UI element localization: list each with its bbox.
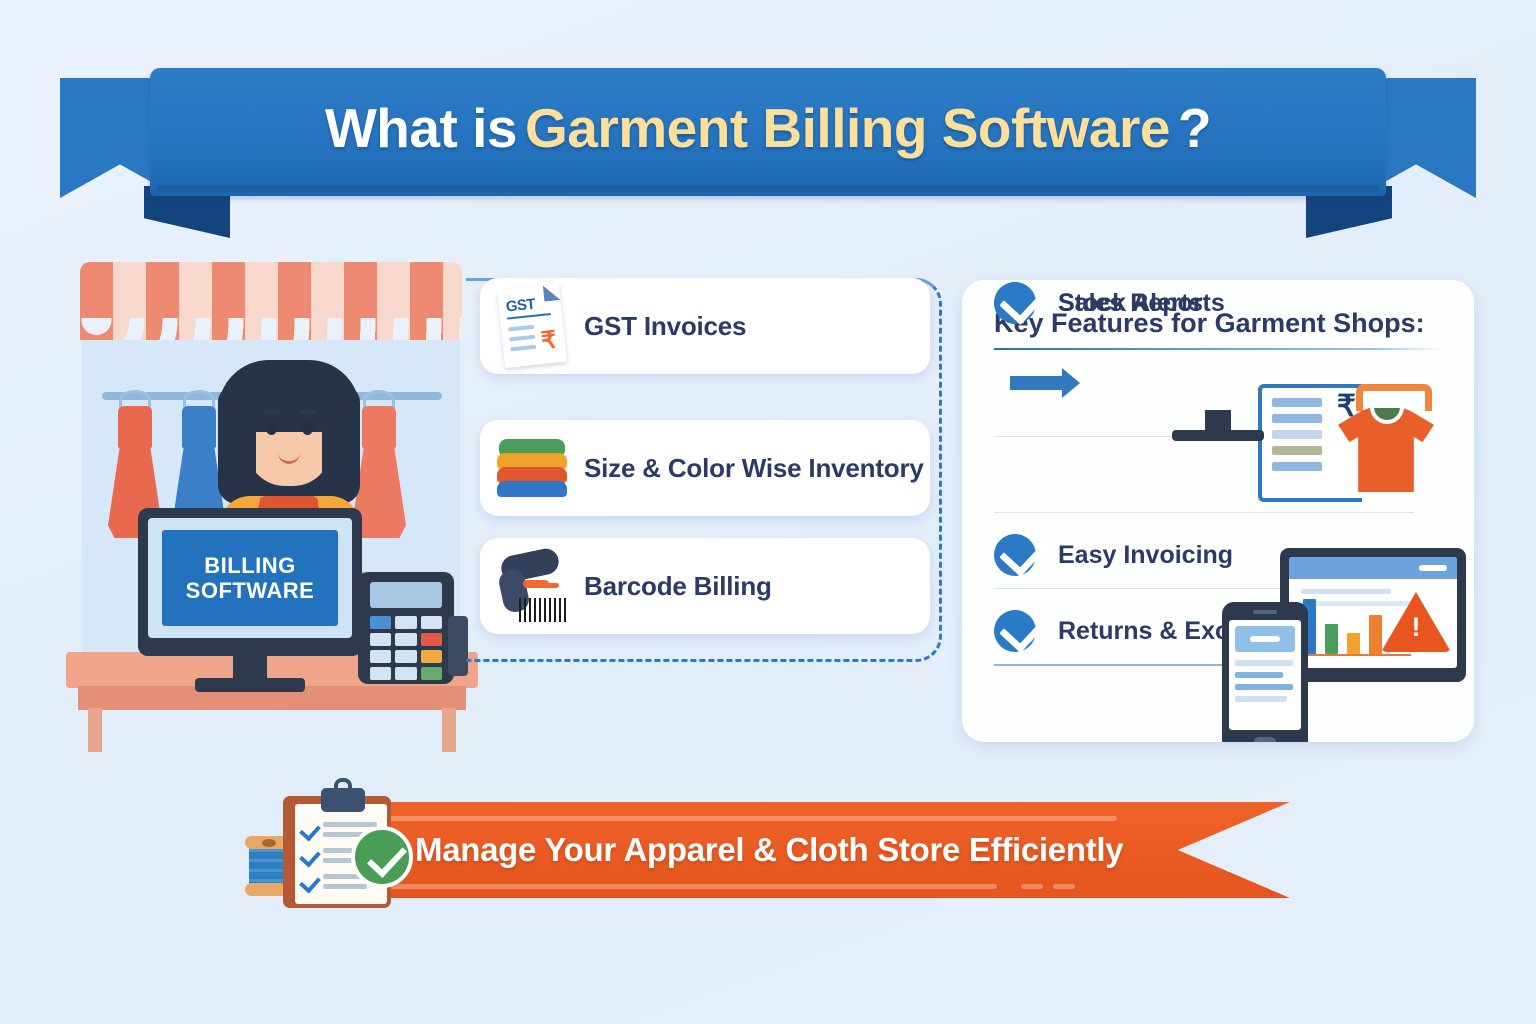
key-feature-stock-alerts[interactable]: Stock Alerts	[994, 280, 1203, 326]
feature-card-barcode[interactable]: Barcode Billing	[480, 538, 930, 634]
feature-card-label: GST Invoices	[584, 311, 746, 342]
smartphone-icon	[1222, 602, 1308, 742]
bar-3	[1347, 633, 1360, 654]
infographic-canvas: What is Garment Billing Software ?	[0, 0, 1536, 1024]
feature-card-gst[interactable]: GST ₹ GST Invoices	[480, 278, 930, 374]
feature-card-inventory[interactable]: Size & Color Wise Inventory	[480, 420, 930, 516]
monitor-line-1: BILLING	[204, 553, 296, 578]
gst-invoice-document-icon: GST ₹	[480, 278, 584, 374]
title-ribbon: What is Garment Billing Software ?	[60, 68, 1476, 218]
check-circle-icon	[994, 280, 1040, 326]
exchange-arrow-icon	[1010, 376, 1064, 390]
barcode-scanner-icon	[480, 538, 584, 634]
heading-underline	[994, 348, 1442, 350]
title-question-mark: ?	[1178, 96, 1211, 160]
monitor-screen-text: BILLING SOFTWARE	[162, 530, 338, 626]
rupee-symbol-icon: ₹	[540, 329, 558, 354]
barcode-stripes	[519, 598, 567, 622]
shop-illustration: BILLING SOFTWARE	[62, 252, 482, 742]
footer-banner: Manage Your Apparel & Cloth Store Effici…	[185, 788, 1295, 912]
key-feature-label: Easy Invoicing	[1058, 541, 1233, 570]
folded-clothes-stack-icon	[480, 420, 584, 516]
green-check-badge-icon	[351, 826, 413, 888]
bar-4	[1369, 615, 1382, 654]
monitor-line-2: SOFTWARE	[186, 578, 315, 603]
title-part-white: What is	[325, 96, 517, 160]
gst-doc-label: GST	[505, 296, 536, 316]
key-feature-easy-invoicing[interactable]: Easy Invoicing	[994, 532, 1233, 578]
checklist-clipboard-icon	[245, 788, 405, 912]
feature-card-label: Barcode Billing	[584, 571, 772, 602]
feature-cards-column: Size & Color Wise Inventory Barcode Bill…	[466, 278, 942, 662]
check-circle-icon	[994, 608, 1040, 654]
billing-software-monitor: BILLING SOFTWARE	[138, 508, 362, 656]
sales-bar-chart	[1303, 592, 1382, 654]
pos-card-machine-icon	[358, 572, 454, 684]
invoice-document-icon: ₹	[1258, 384, 1362, 502]
page-title: What is Garment Billing Software ?	[150, 64, 1386, 192]
key-features-panel: Key Features for Garment Shops: Easy Inv…	[962, 280, 1474, 742]
ribbon-band: What is Garment Billing Software ?	[150, 68, 1386, 196]
feature-card-label: Size & Color Wise Inventory	[584, 453, 924, 484]
footer-tagline: Manage Your Apparel & Cloth Store Effici…	[415, 802, 1123, 898]
striped-awning-icon	[80, 262, 462, 340]
key-feature-label: Stock Alerts	[1058, 289, 1203, 318]
clipboard-clip	[321, 788, 365, 812]
bar-2	[1325, 624, 1338, 654]
check-circle-icon	[994, 532, 1040, 578]
title-part-highlight: Garment Billing Software	[525, 96, 1170, 160]
